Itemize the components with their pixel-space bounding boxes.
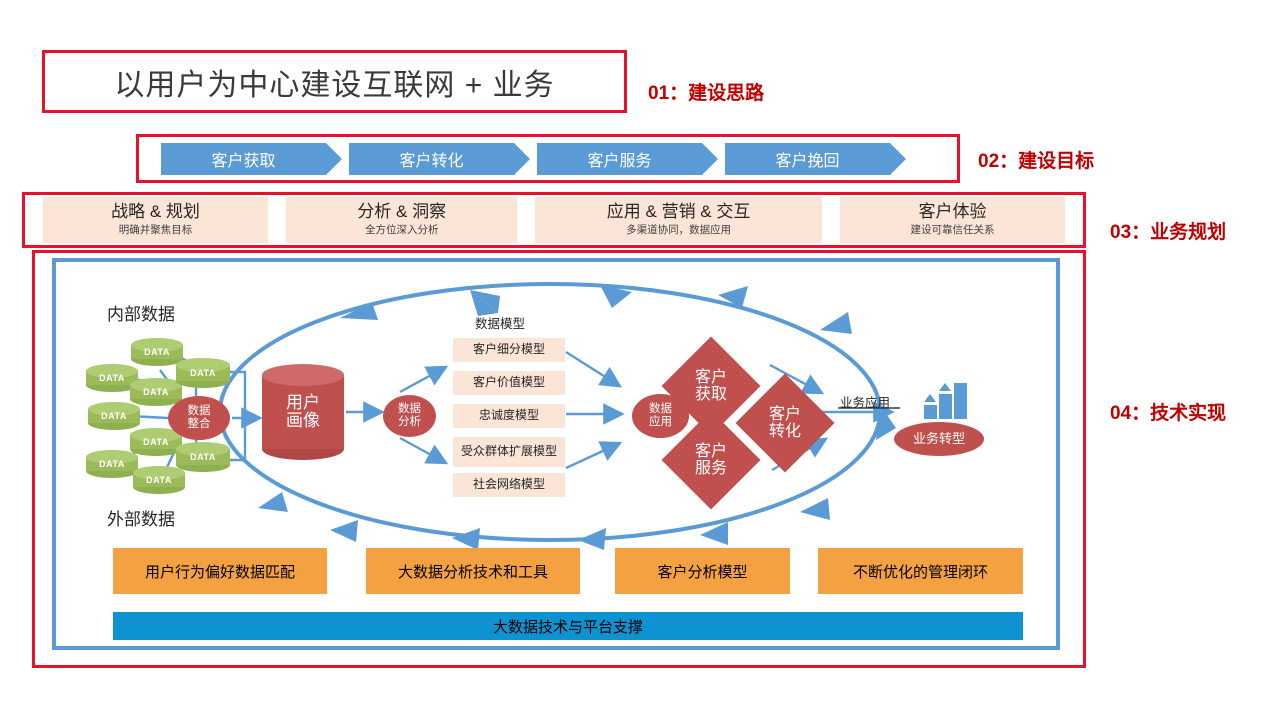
data-application-line1: 数据: [649, 403, 672, 416]
title-box: 以用户为中心建设互联网 + 业务: [42, 50, 627, 113]
planning-frame: 战略 & 规划 明确并聚焦目标 分析 & 洞察 全方位深入分析 应用 & 营销 …: [22, 192, 1086, 248]
goal-chevron-4-label: 客户挽回: [775, 147, 839, 171]
diamond-3-line2: 转化: [769, 423, 801, 440]
data-cylinder-9: DATA: [176, 442, 230, 472]
planning-cell-3[interactable]: 应用 & 营销 & 交互 多渠道协同，数据应用: [535, 197, 822, 243]
section-label-02: 02：建设目标: [978, 146, 1094, 173]
data-analysis-node[interactable]: 数据 分析: [383, 395, 436, 437]
diamond-2-line2: 服务: [695, 460, 727, 477]
planning-cell-3-title: 应用 & 营销 & 交互: [607, 203, 751, 222]
planning-cell-1-sub: 明确并聚焦目标: [119, 224, 193, 237]
data-application-line2: 应用: [649, 416, 672, 429]
growth-bar-chart-icon: [924, 383, 966, 419]
goal-chevron-2-label: 客户转化: [399, 147, 463, 171]
data-cylinder-6-label: DATA: [86, 450, 138, 478]
business-transformation-label: 业务转型: [913, 432, 965, 446]
user-profile-line2: 画像: [286, 412, 320, 430]
diamond-3-line1: 客户: [769, 406, 801, 423]
user-profile-line1: 用户: [286, 394, 320, 412]
planning-cell-2-title: 分析 & 洞察: [357, 203, 446, 222]
data-integration-line2: 整合: [188, 418, 211, 431]
goals-frame: 客户获取 客户转化 客户服务 客户挽回: [136, 134, 960, 183]
section-label-04: 04：技术实现: [1110, 398, 1226, 425]
business-application-label: 业务应用: [840, 392, 890, 411]
bottom-box-1[interactable]: 用户行为偏好数据匹配: [113, 548, 327, 594]
bottom-box-2[interactable]: 大数据分析技术和工具: [366, 548, 580, 594]
planning-cell-4-sub: 建设可靠信任关系: [910, 224, 994, 237]
platform-support-bar[interactable]: 大数据技术与平台支撑: [113, 612, 1023, 640]
goal-chevron-2[interactable]: 客户转化: [349, 143, 514, 175]
section-label-01: 01：建设思路: [648, 78, 764, 105]
goals-chevron-list: 客户获取 客户转化 客户服务 客户挽回: [139, 137, 957, 180]
data-application-node[interactable]: 数据 应用: [632, 394, 689, 438]
business-transformation-node[interactable]: 业务转型: [894, 422, 984, 456]
planning-cells: 战略 & 规划 明确并聚焦目标 分析 & 洞察 全方位深入分析 应用 & 营销 …: [25, 195, 1083, 245]
internal-data-label: 内部数据: [107, 300, 175, 325]
goal-chevron-1-label: 客户获取: [211, 147, 275, 171]
data-analysis-line1: 数据: [398, 403, 421, 416]
diamond-1-line2: 获取: [695, 386, 727, 403]
planning-cell-2[interactable]: 分析 & 洞察 全方位深入分析: [286, 197, 517, 243]
planning-cell-1-title: 战略 & 规划: [111, 203, 200, 222]
data-cylinder-8: DATA: [176, 358, 230, 388]
external-data-label: 外部数据: [107, 505, 175, 530]
planning-cell-2-sub: 全方位深入分析: [365, 224, 439, 237]
diamond-1-line1: 客户: [695, 369, 727, 386]
model-box-1[interactable]: 客户细分模型: [453, 338, 565, 362]
diamond-customer-conversion[interactable]: 客户 转化: [736, 374, 835, 473]
page-title: 以用户为中心建设互联网 + 业务: [114, 60, 554, 104]
bottom-box-4[interactable]: 不断优化的管理闭环: [818, 548, 1023, 594]
slide-canvas: 以用户为中心建设互联网 + 业务 01：建设思路 客户获取 客户转化 客户服务 …: [0, 0, 1280, 720]
model-box-4[interactable]: 受众群体扩展模型: [453, 437, 565, 467]
planning-cell-3-sub: 多渠道协同，数据应用: [626, 224, 731, 237]
data-cylinder-8-label: DATA: [176, 358, 230, 388]
goal-chevron-3[interactable]: 客户服务: [537, 143, 702, 175]
model-box-2[interactable]: 客户价值模型: [453, 371, 565, 395]
planning-cell-4[interactable]: 客户体验 建设可靠信任关系: [840, 197, 1065, 243]
data-cylinder-9-label: DATA: [176, 442, 230, 472]
data-cylinder-4: DATA: [88, 402, 140, 430]
planning-cell-1[interactable]: 战略 & 规划 明确并聚焦目标: [43, 197, 268, 243]
goal-chevron-1[interactable]: 客户获取: [161, 143, 326, 175]
data-analysis-line2: 分析: [398, 416, 421, 429]
goal-chevron-4[interactable]: 客户挽回: [725, 143, 890, 175]
model-box-5[interactable]: 社会网络模型: [453, 473, 565, 497]
user-profile-cylinder[interactable]: 用户 画像: [262, 364, 344, 460]
data-cylinder-6: DATA: [86, 450, 138, 478]
data-cylinder-4-label: DATA: [88, 402, 140, 430]
bottom-box-3[interactable]: 客户分析模型: [615, 548, 790, 594]
goal-chevron-3-label: 客户服务: [587, 147, 651, 171]
data-model-label: 数据模型: [475, 313, 525, 332]
data-integration-line1: 数据: [188, 405, 211, 418]
section-label-03: 03：业务规划: [1110, 217, 1226, 244]
planning-cell-4-title: 客户体验: [918, 203, 986, 222]
model-box-3[interactable]: 忠诚度模型: [453, 404, 565, 428]
diamond-2-line1: 客户: [695, 443, 727, 460]
